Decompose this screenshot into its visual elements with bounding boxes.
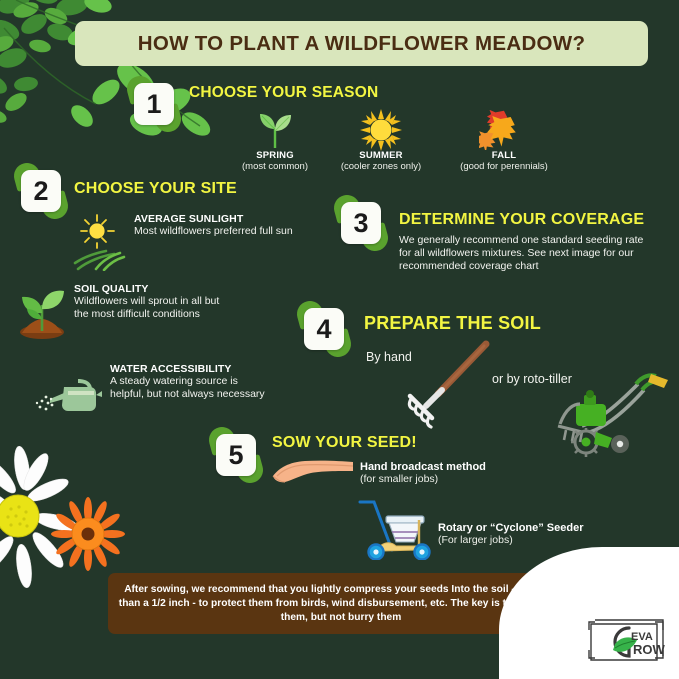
step-heading-1: CHOOSE YOUR SEASON (189, 84, 378, 102)
season-note: (most common) (229, 161, 321, 172)
sow-method-note: (For larger jobs) (438, 534, 584, 546)
seedling-icon (229, 110, 321, 150)
step-3-body: We generally recommend one standard seed… (399, 234, 647, 274)
site-item-body: A steady watering source is helpful, but… (110, 375, 270, 401)
step-number: 3 (353, 210, 368, 237)
step-badge-4: 4 (301, 306, 347, 352)
step-badge-3: 3 (338, 200, 384, 246)
site-item-body: Wildflowers will sprout in all but the m… (74, 295, 222, 321)
step-badge-2: 2 (18, 168, 64, 214)
step-heading-4: PREPARE THE SOIL (364, 313, 541, 334)
step-heading-5: SOW YOUR SEED! (272, 434, 417, 452)
badge-square: 5 (216, 434, 256, 476)
season-summer: SUMMER (cooler zones only) (335, 110, 427, 172)
season-name: SUMMER (335, 150, 427, 161)
step-number: 1 (146, 91, 161, 118)
season-fall: FALL (good for perennials) (449, 110, 559, 172)
site-item-soil-quality: SOIL QUALITY Wildflowers will sprout in … (16, 283, 266, 321)
site-item-title: SOIL QUALITY (74, 283, 266, 295)
step-number: 2 (33, 178, 48, 205)
step-badge-5: 5 (213, 432, 259, 478)
season-spring: SPRING (most common) (229, 110, 321, 172)
title-banner: HOW TO PLANT A WILDFLOWER MEADOW? (75, 21, 648, 66)
infographic-canvas: HOW TO PLANT A WILDFLOWER MEADOW? 1 CHOO… (0, 0, 679, 679)
site-item-average-sunlight: AVERAGE SUNLIGHT Most wildflowers prefer… (72, 213, 302, 238)
season-name: FALL (449, 150, 559, 161)
site-item-title: WATER ACCESSIBILITY (110, 363, 284, 375)
eva-grow-logo: EVA ROW (585, 614, 673, 670)
site-item-water-accessibility: WATER ACCESSIBILITY A steady watering so… (34, 363, 284, 401)
badge-square: 3 (341, 202, 381, 244)
logo-line2: ROW (633, 642, 666, 657)
roto-tiller-icon (546, 368, 670, 460)
season-note: (cooler zones only) (335, 161, 427, 172)
badge-square: 4 (304, 308, 344, 350)
step-badge-1: 1 (131, 81, 177, 127)
sow-method-title: Hand broadcast method (360, 461, 486, 473)
site-item-title: AVERAGE SUNLIGHT (134, 213, 302, 225)
page-title: HOW TO PLANT A WILDFLOWER MEADOW? (138, 32, 586, 56)
step-number: 5 (228, 442, 243, 469)
step-heading-2: CHOOSE YOUR SITE (74, 180, 237, 198)
watering-can-icon (34, 373, 104, 419)
sprout-in-soil-icon (16, 283, 68, 339)
season-note: (good for perennials) (449, 161, 559, 172)
sun-icon (335, 110, 427, 150)
rake-icon (398, 338, 502, 430)
sow-method-note: (for smaller jobs) (360, 473, 486, 485)
sow-method-title: Rotary or “Cyclone” Seeder (438, 522, 584, 534)
rotary-seeder-icon (352, 498, 442, 560)
step-number: 4 (316, 316, 331, 343)
open-hand-icon (271, 458, 357, 490)
maple-leaf-icon (449, 110, 559, 150)
badge-square: 1 (134, 83, 174, 125)
site-item-body: Most wildflowers preferred full sun (134, 225, 302, 238)
season-name: SPRING (229, 150, 321, 161)
step-heading-3: DETERMINE YOUR COVERAGE (399, 211, 644, 229)
badge-square: 2 (21, 170, 61, 212)
sun-over-field-icon (72, 213, 128, 271)
